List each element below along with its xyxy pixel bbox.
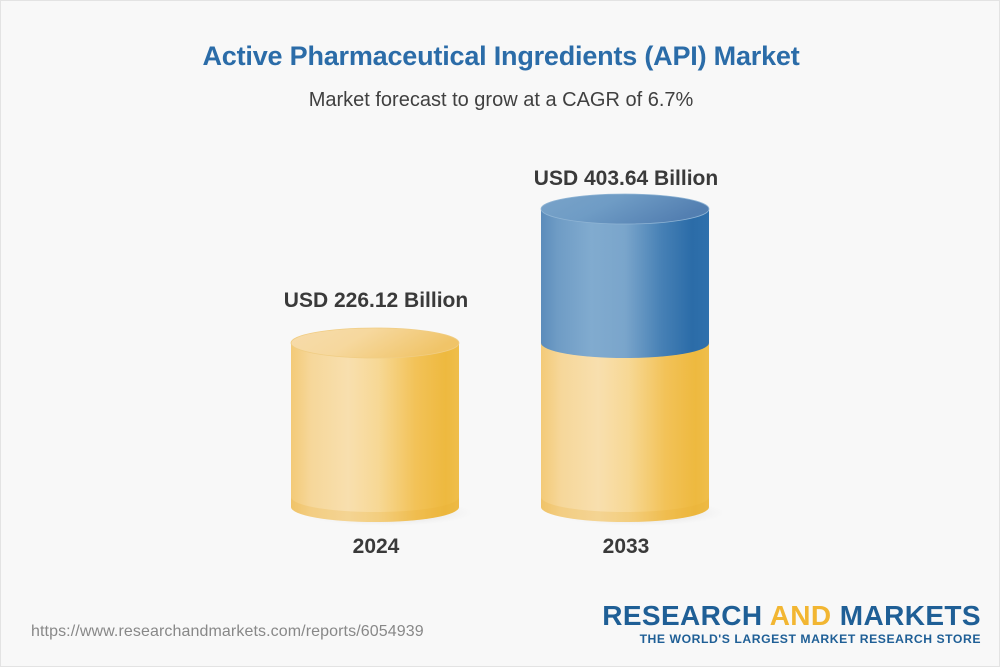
logo-word-markets: MARKETS xyxy=(840,600,981,631)
research-and-markets-logo[interactable]: RESEARCH AND MARKETS THE WORLD'S LARGEST… xyxy=(602,601,981,646)
logo-word-and: AND xyxy=(770,600,832,631)
chart-canvas: Active Pharmaceutical Ingredients (API) … xyxy=(0,0,1000,667)
logo-word-research: RESEARCH xyxy=(602,600,762,631)
report-url[interactable]: https://www.researchandmarkets.com/repor… xyxy=(31,623,424,641)
logo-tagline: THE WORLD'S LARGEST MARKET RESEARCH STOR… xyxy=(602,632,981,646)
value-label-2024: USD 226.12 Billion xyxy=(206,289,546,313)
value-label-2033: USD 403.64 Billion xyxy=(456,167,796,191)
logo-wordmark: RESEARCH AND MARKETS xyxy=(602,601,981,630)
bar-cylinder-2033 xyxy=(537,193,723,527)
bar-cylinder-2024 xyxy=(287,327,471,527)
category-label-2033: 2033 xyxy=(456,535,796,559)
plot-area: USD 226.12 Billion xyxy=(1,1,1000,601)
